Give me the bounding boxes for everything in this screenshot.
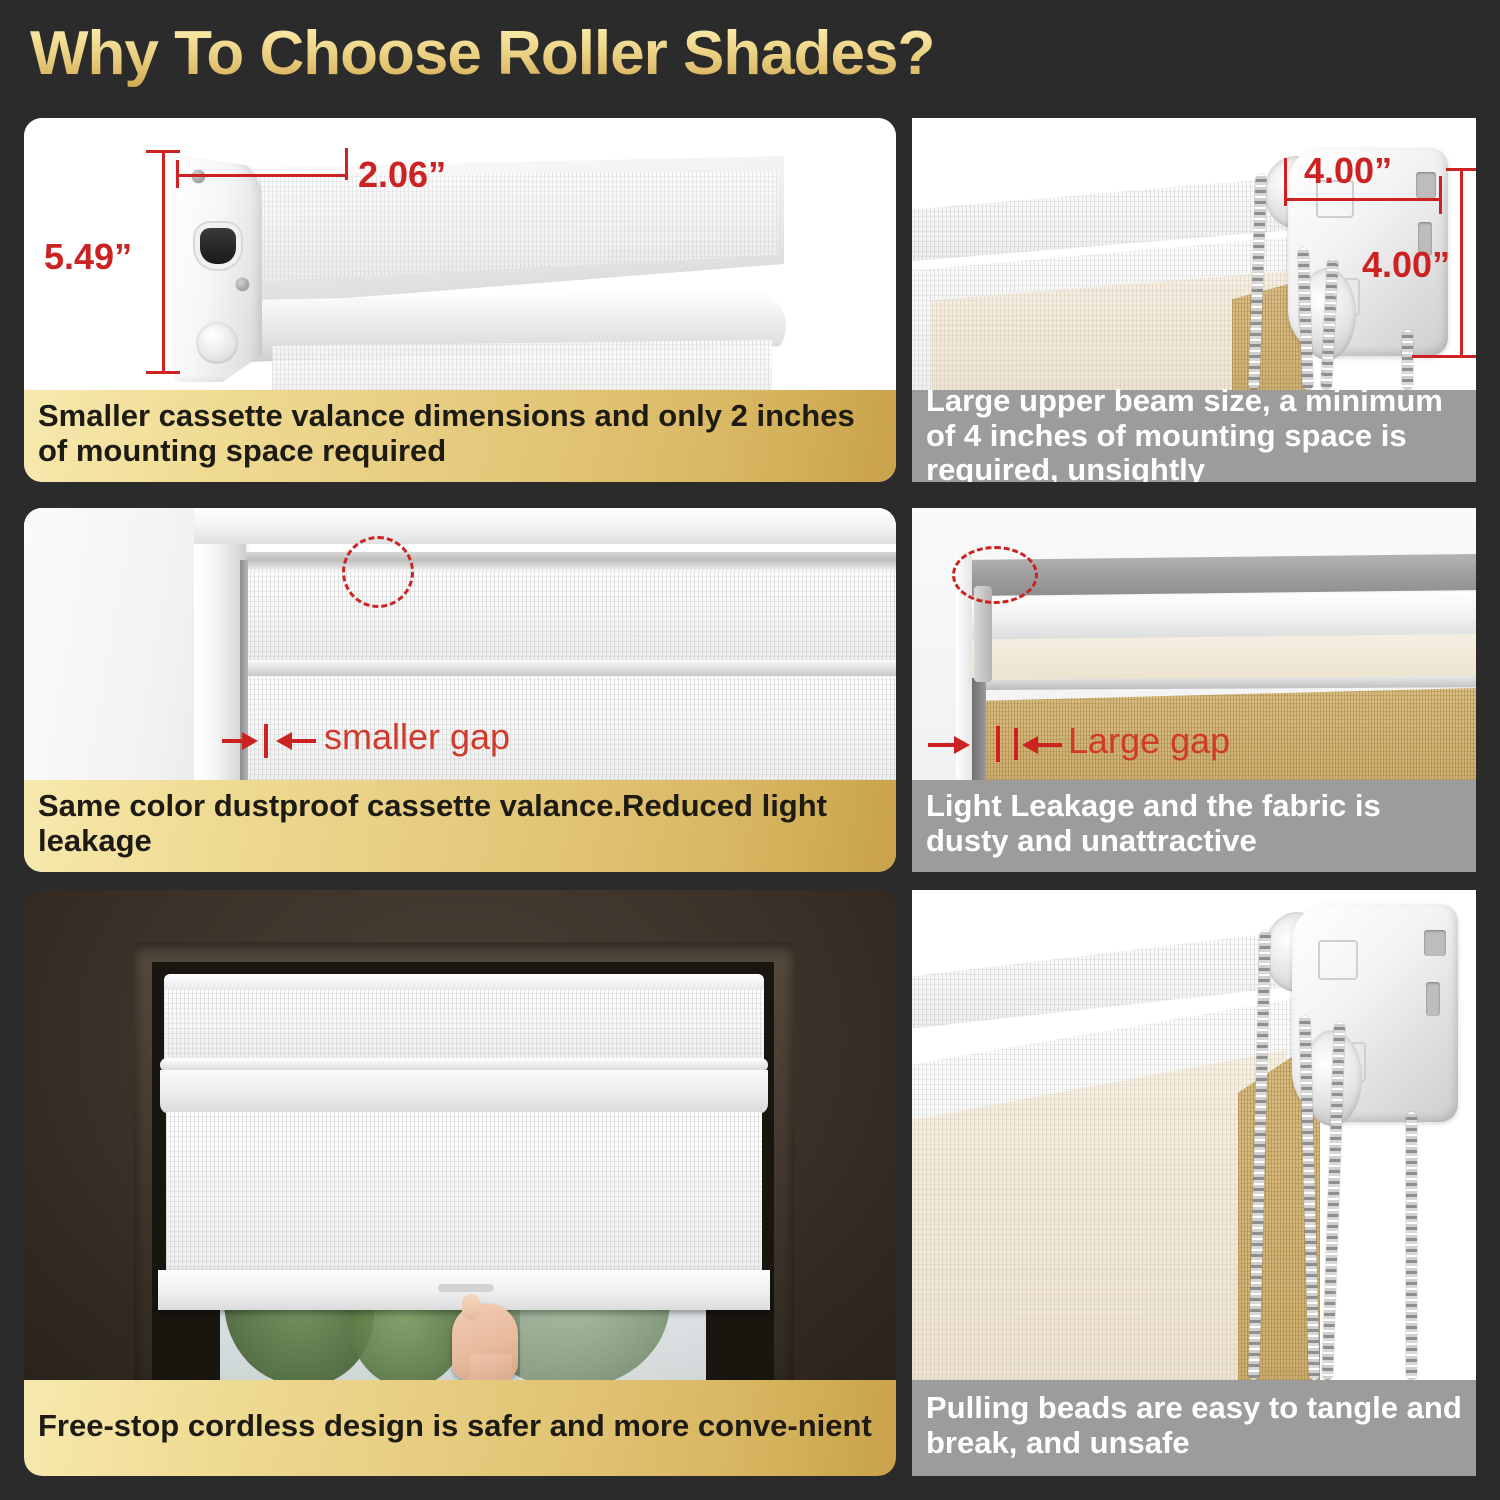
panel-mid-left-caption: Same color dustproof cassette valance.Re…	[24, 780, 896, 872]
panel-mid-right: Large gap Light Leakage and the fabric i…	[912, 508, 1476, 872]
comparison-grid: 5.49” 2.06” Smaller cassette valance dim…	[0, 0, 1500, 1500]
width-dimension-line	[176, 174, 348, 177]
gap-arrow-right-stem	[290, 739, 316, 743]
panel-bottom-left: Free-stop cordless design is safer and m…	[24, 890, 896, 1476]
bracket-height-dim-line	[1460, 168, 1463, 358]
bracket-slot-top	[1424, 930, 1446, 956]
width-dim-tick-left	[176, 160, 179, 188]
gap-arrow-right-stem	[1036, 743, 1062, 747]
forearm	[470, 1354, 512, 1380]
bead-chain-4	[1402, 330, 1413, 390]
bracket-slot-top	[1416, 172, 1436, 198]
panel-mid-left-caption-text: Same color dustproof cassette valance.Re…	[38, 789, 882, 858]
gap-arrow-left-stem	[928, 743, 956, 747]
shade-fabric-main	[166, 1112, 762, 1272]
panel-mid-right-caption-text: Light Leakage and the fabric is dusty an…	[926, 789, 1462, 858]
bracket-logo-upper-icon	[1318, 940, 1358, 980]
bracket-width-label: 4.00”	[1304, 150, 1392, 192]
valance-fabric	[164, 990, 764, 1064]
panel-top-right-photo: 4.00” 4.00”	[912, 118, 1476, 390]
shade-bottom-rail-grip	[438, 1284, 494, 1292]
light-gap-strip	[972, 678, 986, 780]
panel-top-left: 5.49” 2.06” Smaller cassette valance dim…	[24, 118, 896, 482]
panel-top-right-caption-text: Large upper beam size, a minimum of 4 in…	[926, 384, 1462, 482]
height-dim-tick-top	[146, 150, 180, 153]
shade-fabric-drop	[272, 340, 772, 390]
valance-cream-strip	[972, 634, 1476, 680]
bead-chain-4	[1406, 1112, 1417, 1380]
gap-callout-label: Large gap	[1068, 720, 1230, 762]
gap-arrow-left-head-icon	[242, 732, 258, 750]
gap-highlight-circle	[342, 536, 414, 608]
panel-bottom-left-caption: Free-stop cordless design is safer and m…	[24, 1380, 896, 1476]
panel-bottom-left-photo	[24, 890, 896, 1380]
upper-beam-gray	[968, 554, 1476, 596]
panel-top-right: 4.00” 4.00” Large upper beam size, a min…	[912, 118, 1476, 482]
bracket-height-tick-top	[1446, 168, 1476, 171]
bracket-width-dim-line	[1284, 198, 1442, 201]
gap-arrow-left-head-icon	[954, 736, 970, 754]
panel-bottom-right-photo	[912, 890, 1476, 1380]
valance-white	[970, 592, 1476, 640]
width-dim-tick-right	[345, 148, 348, 180]
panel-top-left-caption-text: Smaller cassette valance dimensions and …	[38, 399, 882, 468]
height-dimension-line	[162, 150, 165, 374]
panel-mid-left: smaller gap Same color dustproof cassett…	[24, 508, 896, 872]
cap-screw-mid	[236, 278, 249, 291]
panel-mid-right-caption: Light Leakage and the fabric is dusty an…	[912, 780, 1476, 872]
gap-measure-bar	[264, 724, 268, 758]
shade-mid-rail	[246, 660, 896, 676]
roller-tube	[160, 1070, 768, 1114]
height-dim-tick-bottom	[146, 371, 180, 374]
gap-highlight-circle	[952, 546, 1038, 604]
panel-mid-right-photo: Large gap	[912, 508, 1476, 780]
bracket-height-tick-bottom	[1412, 355, 1476, 358]
gap-measure-bar-left	[996, 726, 1000, 762]
panel-bottom-right: Pulling beads are easy to tangle and bre…	[912, 890, 1476, 1476]
panel-bottom-left-caption-text: Free-stop cordless design is safer and m…	[38, 1409, 872, 1444]
panel-top-right-caption: Large upper beam size, a minimum of 4 in…	[912, 390, 1476, 482]
panel-top-left-photo: 5.49” 2.06”	[24, 118, 896, 390]
height-dimension-label: 5.49”	[44, 236, 132, 278]
panel-mid-left-photo: smaller gap	[24, 508, 896, 780]
cap-mechanism-slot	[200, 228, 236, 264]
window-casing-top	[194, 508, 896, 544]
gap-arrow-left-stem	[222, 739, 244, 743]
finger-tip	[462, 1294, 480, 1320]
gap-callout-label: smaller gap	[324, 716, 510, 758]
width-dimension-label: 2.06”	[358, 154, 446, 196]
bracket-slot-mid	[1426, 982, 1440, 1016]
panel-bottom-right-caption-text: Pulling beads are easy to tangle and bre…	[926, 1391, 1462, 1460]
bracket-width-tick-right	[1439, 176, 1442, 214]
panel-top-left-caption: Smaller cassette valance dimensions and …	[24, 390, 896, 482]
gap-measure-bar-right	[1014, 728, 1018, 760]
bracket-width-tick-left	[1284, 158, 1287, 206]
panel-bottom-right-caption: Pulling beads are easy to tangle and bre…	[912, 1380, 1476, 1476]
cap-bottom-knob	[196, 322, 238, 364]
bracket-height-label: 4.00”	[1362, 244, 1450, 286]
